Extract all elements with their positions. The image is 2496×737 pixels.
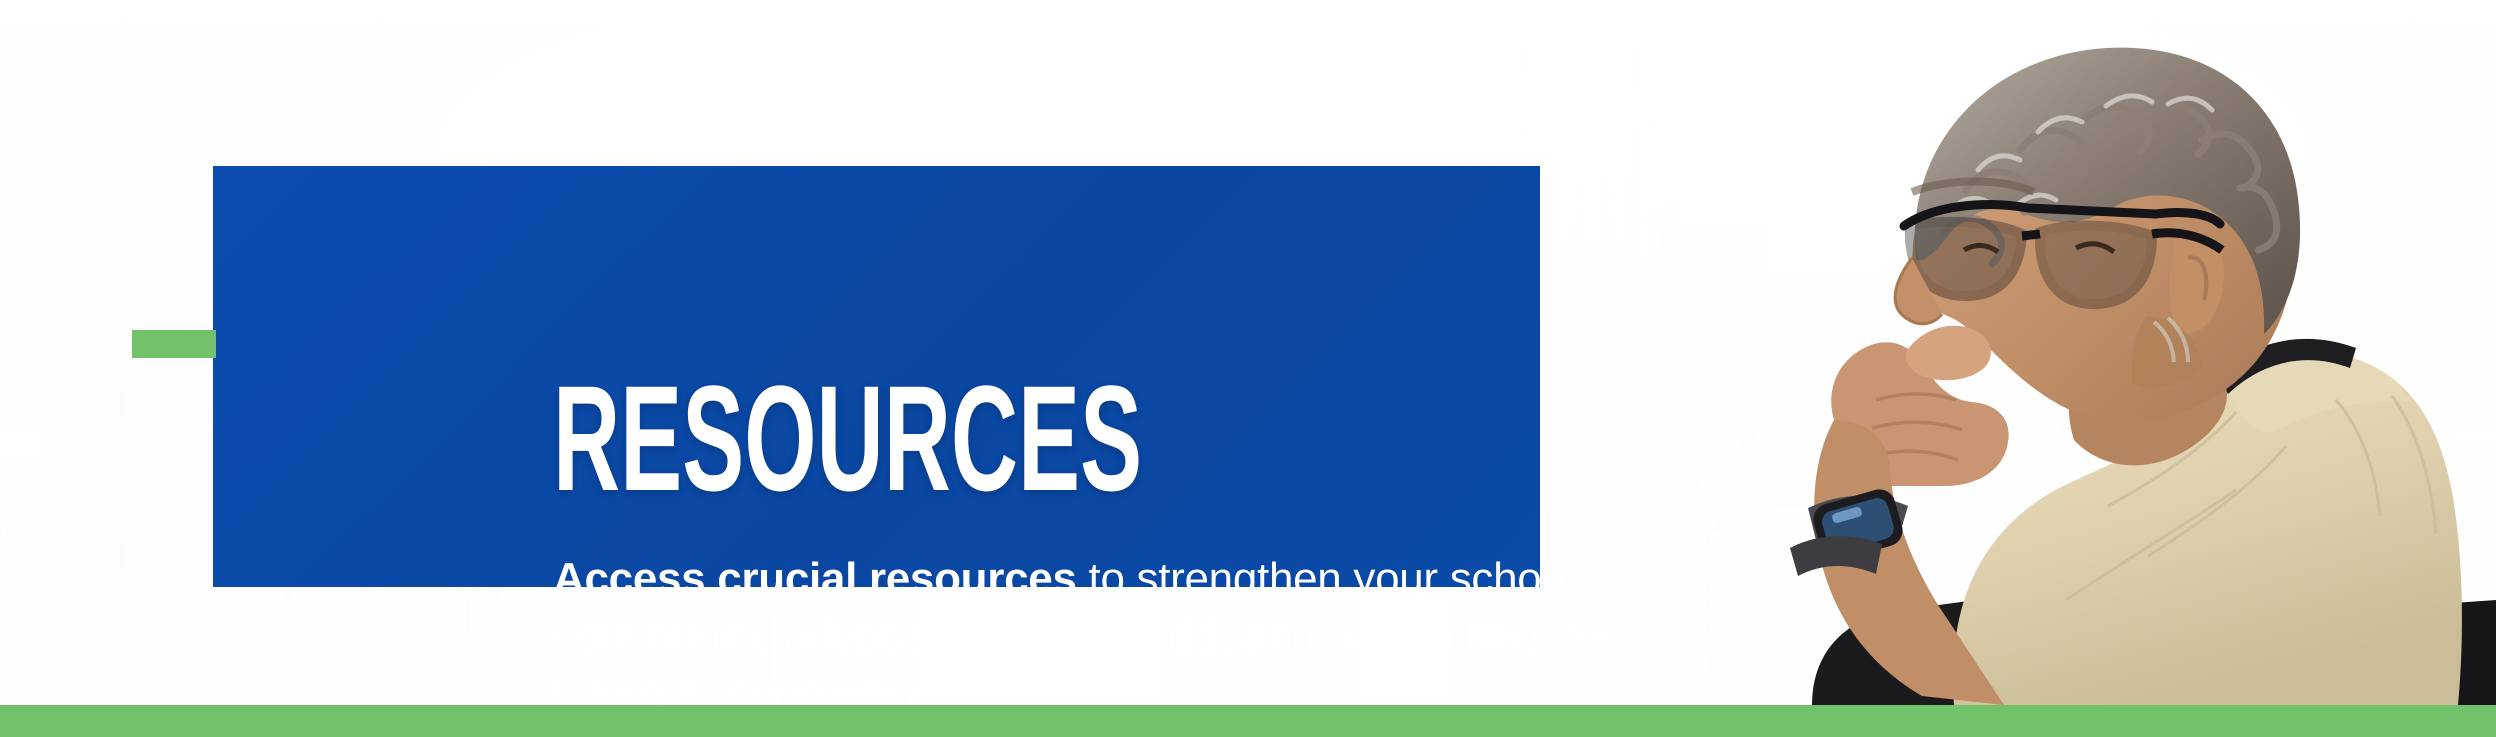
person-portrait-photo — [1716, 0, 2496, 705]
page-title: RESOURCES — [553, 374, 1142, 503]
accent-dash — [132, 330, 216, 358]
panel-text-group: RESOURCES Access crucial resources to st… — [553, 166, 1733, 587]
content-panel: RESOURCES Access crucial resources to st… — [213, 166, 1540, 587]
bottom-accent-bar — [0, 705, 2496, 737]
page-description: Access crucial resources to strengthen y… — [553, 550, 1713, 724]
resources-hero-banner: RESOURCES Access crucial resources to st… — [0, 0, 2496, 737]
page-description-emphasis: Access crucial resources — [553, 554, 1077, 603]
